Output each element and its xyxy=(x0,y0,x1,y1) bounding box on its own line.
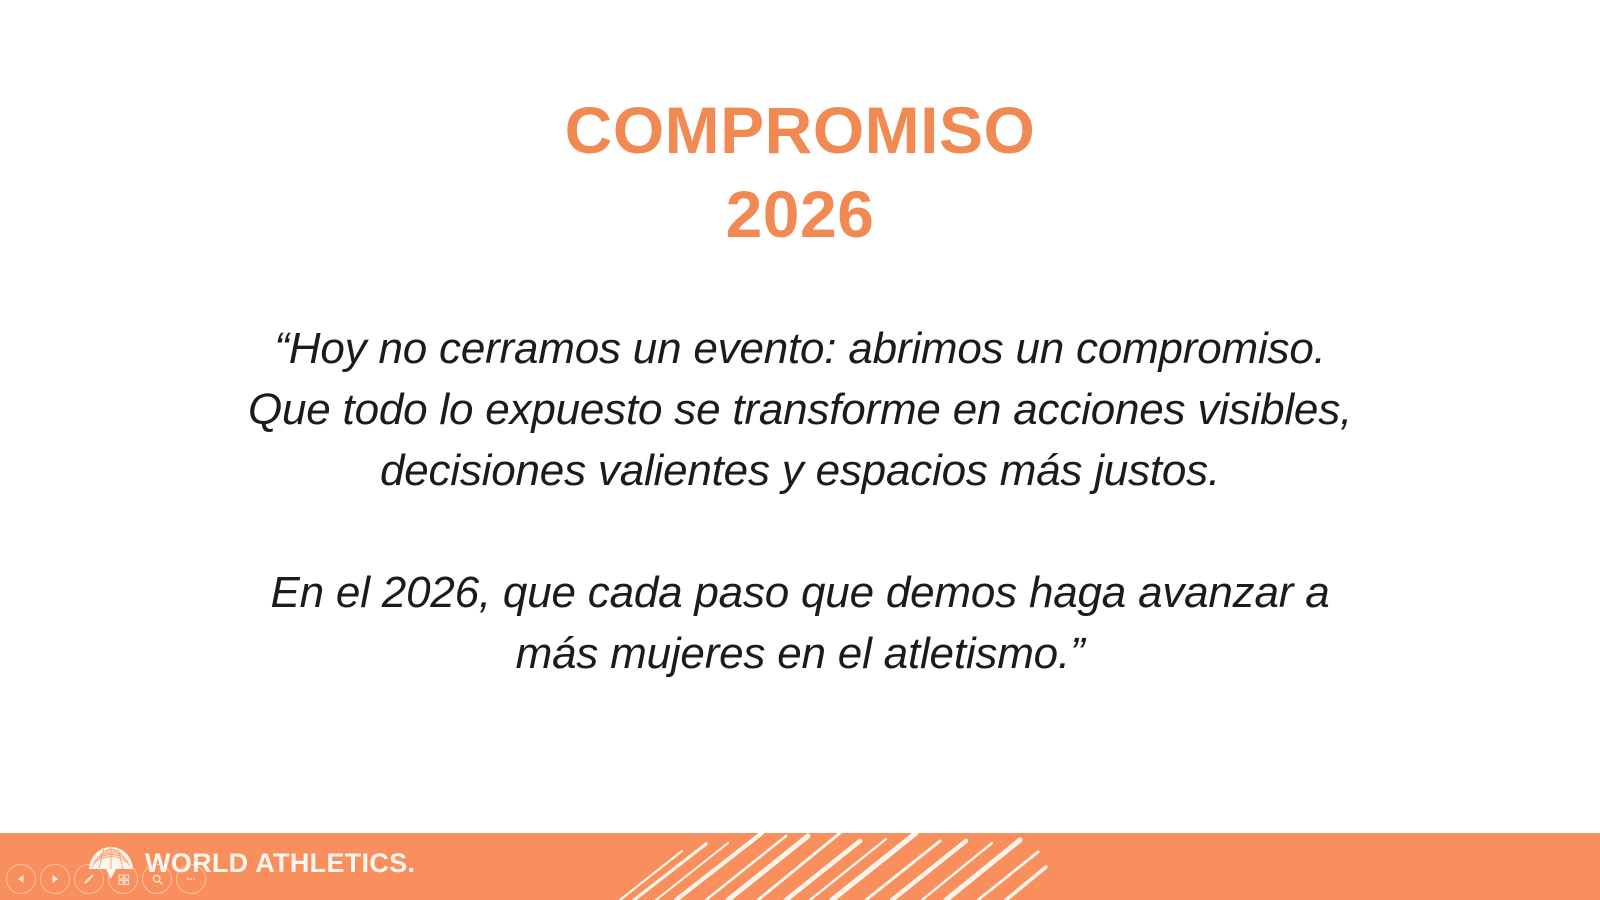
presentation-slide: COMPROMISO 2026 “Hoy no cerramos un even… xyxy=(0,0,1600,900)
paragraph-spacer xyxy=(190,501,1410,562)
more-options-button[interactable] xyxy=(176,864,206,894)
quote-p1-line-3: decisiones valientes y espacios más just… xyxy=(190,440,1410,501)
triangle-right-icon xyxy=(49,873,61,885)
title-line-2: 2026 xyxy=(0,172,1600,256)
quote-paragraph-2: En el 2026, que cada paso que demos haga… xyxy=(190,562,1410,684)
quote-paragraph-1: “Hoy no cerramos un evento: abrimos un c… xyxy=(190,318,1410,501)
triangle-left-icon xyxy=(15,873,27,885)
quote-p1-line-1: “Hoy no cerramos un evento: abrimos un c… xyxy=(190,318,1410,379)
diagonal-stripes-decoration xyxy=(610,833,1050,900)
slide-grid-button[interactable] xyxy=(108,864,138,894)
slide-footer: WORLD ATHLETICS. xyxy=(0,833,1600,900)
title-line-1: COMPROMISO xyxy=(0,88,1600,172)
ellipsis-icon xyxy=(184,872,198,886)
pen-tool-button[interactable] xyxy=(74,864,104,894)
quote-body: “Hoy no cerramos un evento: abrimos un c… xyxy=(190,318,1410,684)
magnifier-icon xyxy=(151,873,164,886)
quote-p2-line-1: En el 2026, que cada paso que demos haga… xyxy=(190,562,1410,623)
quote-p2-line-2: más mujeres en el atletismo.” xyxy=(190,623,1410,684)
zoom-button[interactable] xyxy=(142,864,172,894)
page-title: COMPROMISO 2026 xyxy=(0,88,1600,256)
pen-icon xyxy=(82,872,96,886)
presenter-controls xyxy=(6,864,206,894)
next-slide-button[interactable] xyxy=(40,864,70,894)
previous-slide-button[interactable] xyxy=(6,864,36,894)
quote-p1-line-2: Que todo lo expuesto se transforme en ac… xyxy=(190,379,1410,440)
grid-icon xyxy=(117,873,130,886)
